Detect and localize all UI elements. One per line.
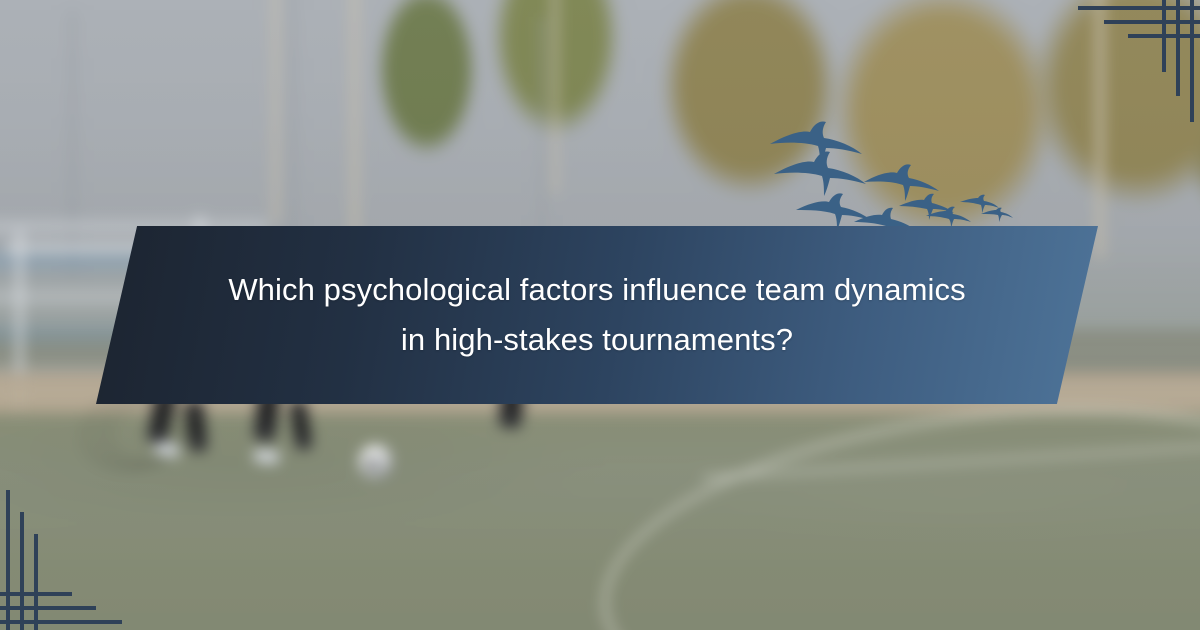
corner-frame-top-right — [1040, 0, 1200, 130]
corner-line-horizontal — [0, 606, 96, 610]
corner-line-horizontal — [0, 620, 122, 624]
bird-flock-icon — [766, 118, 1018, 230]
corner-line-horizontal — [1078, 6, 1200, 10]
screenshot-root: Which psychological factors influence te… — [0, 0, 1200, 630]
corner-line-vertical — [1176, 0, 1180, 96]
question-banner: Which psychological factors influence te… — [96, 226, 1098, 404]
corner-line-vertical — [1162, 0, 1166, 72]
corner-frame-bottom-left — [0, 490, 160, 630]
corner-line-vertical — [6, 490, 10, 630]
corner-line-vertical — [1190, 0, 1194, 122]
corner-line-vertical — [34, 534, 38, 630]
question-text: Which psychological factors influence te… — [217, 265, 977, 365]
corner-line-vertical — [20, 512, 24, 630]
corner-line-horizontal — [1104, 20, 1200, 24]
